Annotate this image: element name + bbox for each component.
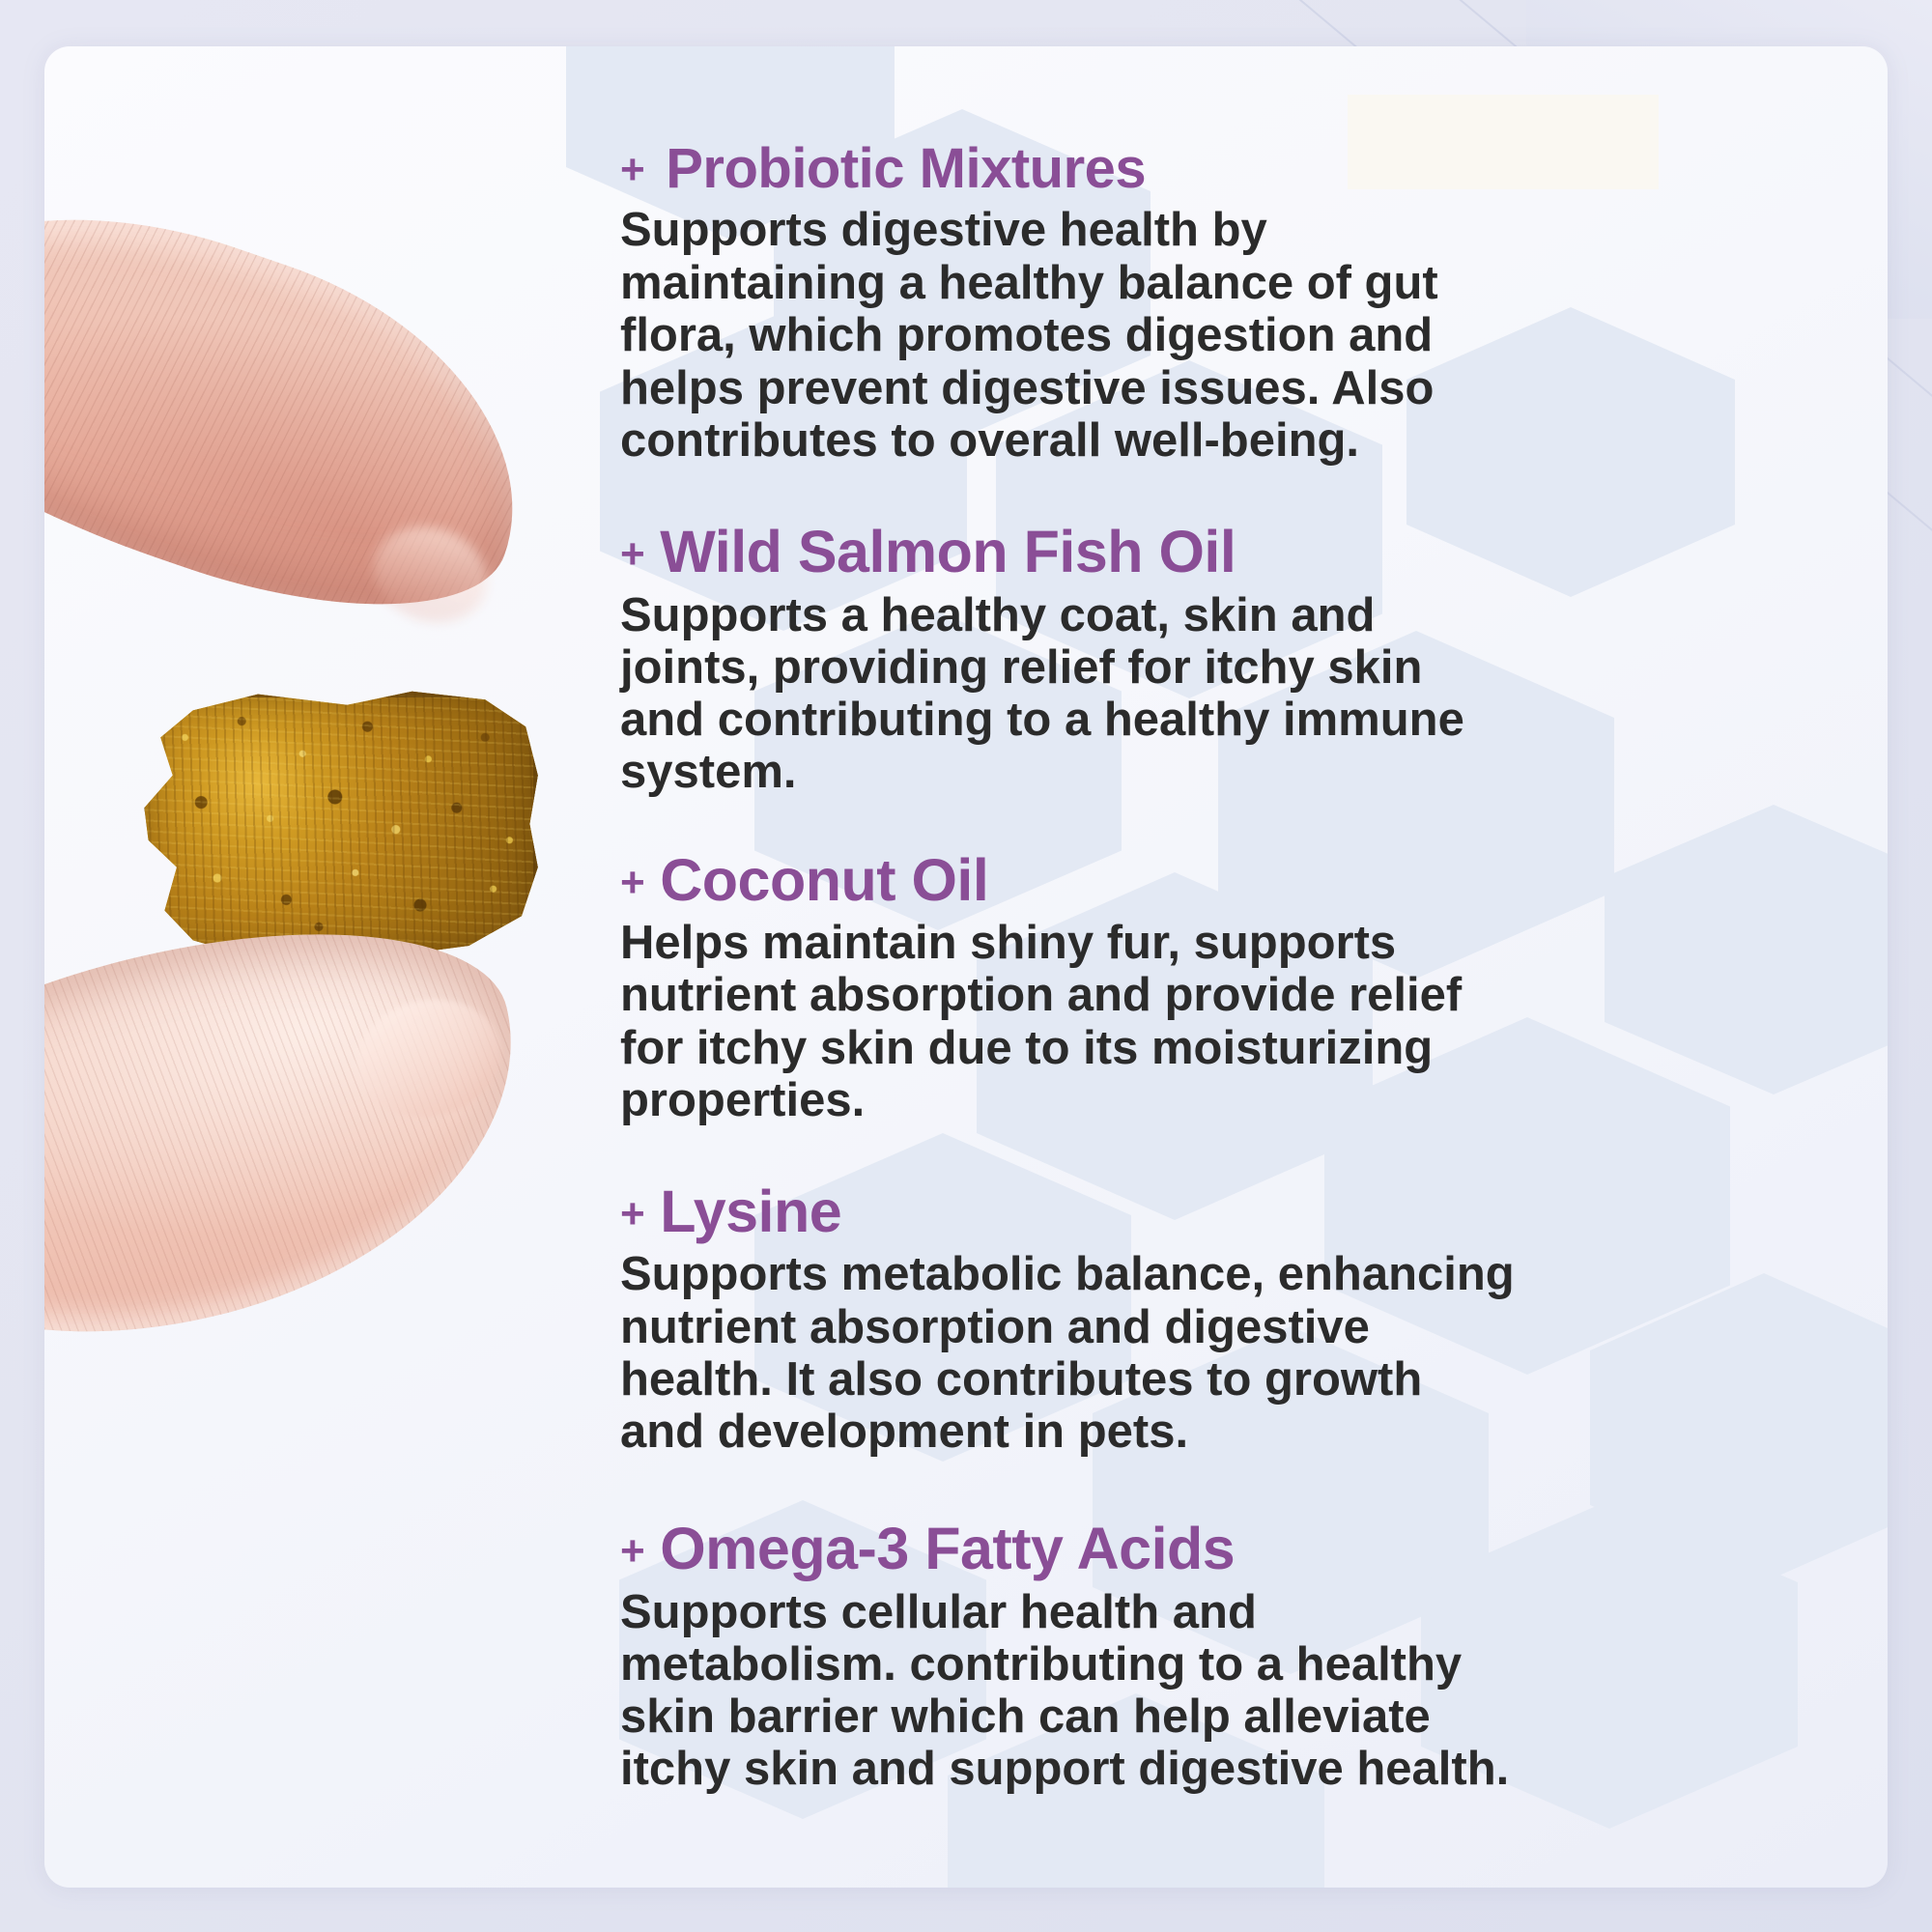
benefit-title-text: Wild Salmon Fish Oil <box>660 519 1236 584</box>
benefit-item-omega-3-fatty-acids: +Omega-3 Fatty Acids Supports cellular h… <box>620 1518 1519 1795</box>
dog-treat-bone <box>136 689 542 959</box>
benefit-title-wild-salmon-fish-oil: +Wild Salmon Fish Oil <box>620 521 1519 583</box>
benefit-description-coconut-oil: Helps maintain shiny fur, supports nutri… <box>620 917 1519 1126</box>
page-root: +Probiotic Mixtures Supports digestive h… <box>0 0 1932 1932</box>
benefit-item-probiotic-mixtures: +Probiotic Mixtures Supports digestive h… <box>620 139 1519 467</box>
benefit-title-omega-3-fatty-acids: +Omega-3 Fatty Acids <box>620 1518 1519 1580</box>
benefit-description-lysine: Supports metabolic balance, enhancing nu… <box>620 1248 1519 1458</box>
plus-icon: + <box>620 532 644 578</box>
benefit-item-lysine: +Lysine Supports metabolic balance, enha… <box>620 1180 1519 1458</box>
benefit-item-coconut-oil: +Coconut Oil Helps maintain shiny fur, s… <box>620 849 1519 1126</box>
fingerprint-texture-bottom <box>44 879 559 1398</box>
benefit-title-coconut-oil: +Coconut Oil <box>620 849 1519 912</box>
benefit-description-wild-salmon-fish-oil: Supports a healthy coat, skin and joints… <box>620 589 1519 799</box>
benefit-item-wild-salmon-fish-oil: +Wild Salmon Fish Oil Supports a healthy… <box>620 521 1519 798</box>
product-photo <box>44 235 585 1384</box>
plus-icon: + <box>620 1529 644 1575</box>
benefit-description-probiotic-mixtures: Supports digestive health by maintaining… <box>620 204 1519 467</box>
top-finger <box>44 143 571 665</box>
fingerprint-texture-top <box>44 143 571 665</box>
plus-icon: + <box>620 861 644 906</box>
benefit-title-text: Lysine <box>660 1179 841 1244</box>
benefit-title-text: Coconut Oil <box>660 847 988 913</box>
benefit-title-text: Probiotic Mixtures <box>666 137 1146 200</box>
plus-icon: + <box>620 1192 644 1237</box>
benefit-title-probiotic-mixtures: +Probiotic Mixtures <box>620 139 1519 198</box>
treat-edge-shadow <box>136 689 542 959</box>
benefits-list: +Probiotic Mixtures Supports digestive h… <box>620 139 1519 1795</box>
benefit-title-lysine: +Lysine <box>620 1180 1519 1243</box>
plus-icon: + <box>620 148 644 193</box>
bottom-finger <box>44 879 559 1398</box>
benefits-card: +Probiotic Mixtures Supports digestive h… <box>44 46 1888 1888</box>
benefit-description-omega-3-fatty-acids: Supports cellular health and metabolism.… <box>620 1586 1519 1796</box>
benefit-title-text: Omega-3 Fatty Acids <box>660 1516 1235 1581</box>
